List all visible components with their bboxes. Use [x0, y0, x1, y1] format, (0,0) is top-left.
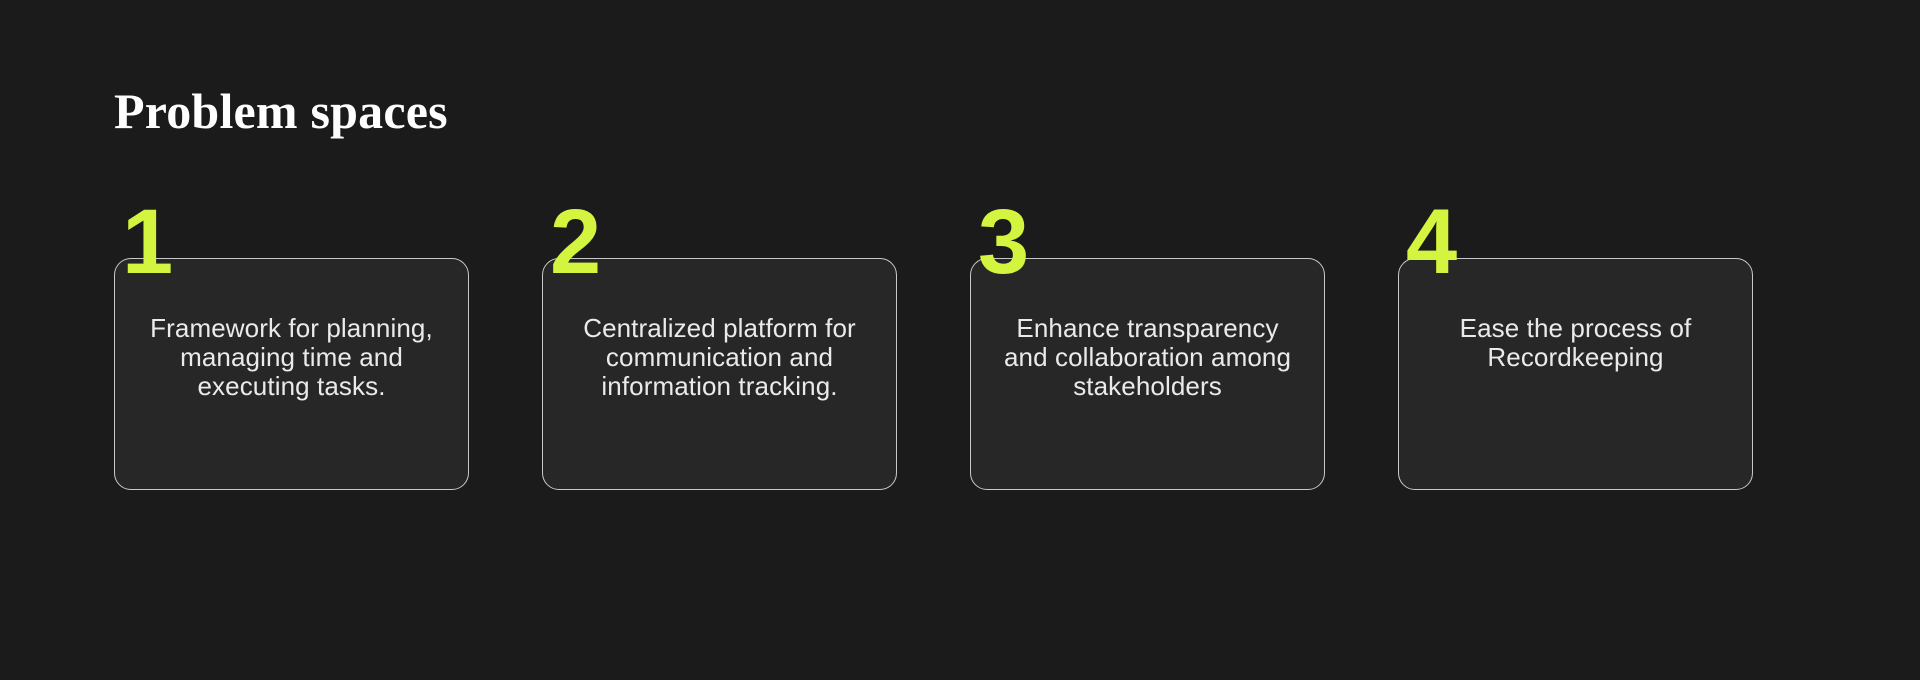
problem-space-card-4[interactable]: Ease the process of Recordkeeping 4 [1398, 258, 1753, 490]
card-number-3: 3 [978, 196, 1029, 288]
card-description-3: Enhance transparency and collaboration a… [993, 314, 1303, 401]
problem-spaces-card-row: Framework for planning, managing time an… [114, 258, 1804, 490]
slide-canvas: Problem spaces Framework for planning, m… [0, 0, 1920, 680]
page-title: Problem spaces [114, 84, 448, 139]
card-description-4: Ease the process of Recordkeeping [1421, 314, 1731, 372]
problem-space-card-3[interactable]: Enhance transparency and collaboration a… [970, 258, 1325, 490]
card-number-4: 4 [1406, 196, 1457, 288]
problem-space-card-1[interactable]: Framework for planning, managing time an… [114, 258, 469, 490]
card-description-2: Centralized platform for communication a… [565, 314, 875, 401]
card-description-1: Framework for planning, managing time an… [137, 314, 447, 401]
problem-space-card-2[interactable]: Centralized platform for communication a… [542, 258, 897, 490]
card-number-2: 2 [550, 196, 601, 288]
card-number-1: 1 [122, 196, 173, 288]
